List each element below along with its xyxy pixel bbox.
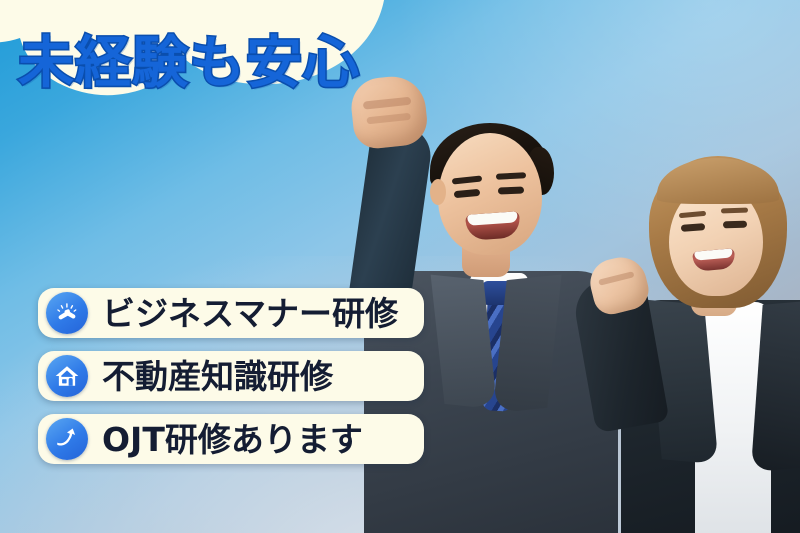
house-icon [46,355,88,397]
businesswoman-figure [585,150,800,533]
businesswoman-eyebrow-right [721,208,748,214]
page-title: 未経験も安心 [18,22,388,94]
badge-label: OJT研修あります [102,423,363,456]
businesswoman-bangs [657,158,779,204]
businesswoman-eye-right [723,221,747,229]
badge-label: ビジネスマナー研修 [102,297,398,330]
businessman-eye-right [498,187,524,195]
feature-badge-list: ビジネスマナー研修 不動産知識研修 OJT研修あります [38,288,424,464]
badge-business-manner-training[interactable]: ビジネスマナー研修 [38,288,424,338]
badge-real-estate-knowledge-training[interactable]: 不動産知識研修 [38,351,424,401]
badge-label: 不動産知識研修 [102,360,333,393]
promotional-banner-image: 未経験も安心 ビジネスマナー研修 [0,0,800,533]
businessman-ear [430,179,446,205]
growth-arrow-icon [46,418,88,460]
clapping-hands-icon [46,292,88,334]
badge-ojt-training[interactable]: OJT研修あります [38,414,424,464]
